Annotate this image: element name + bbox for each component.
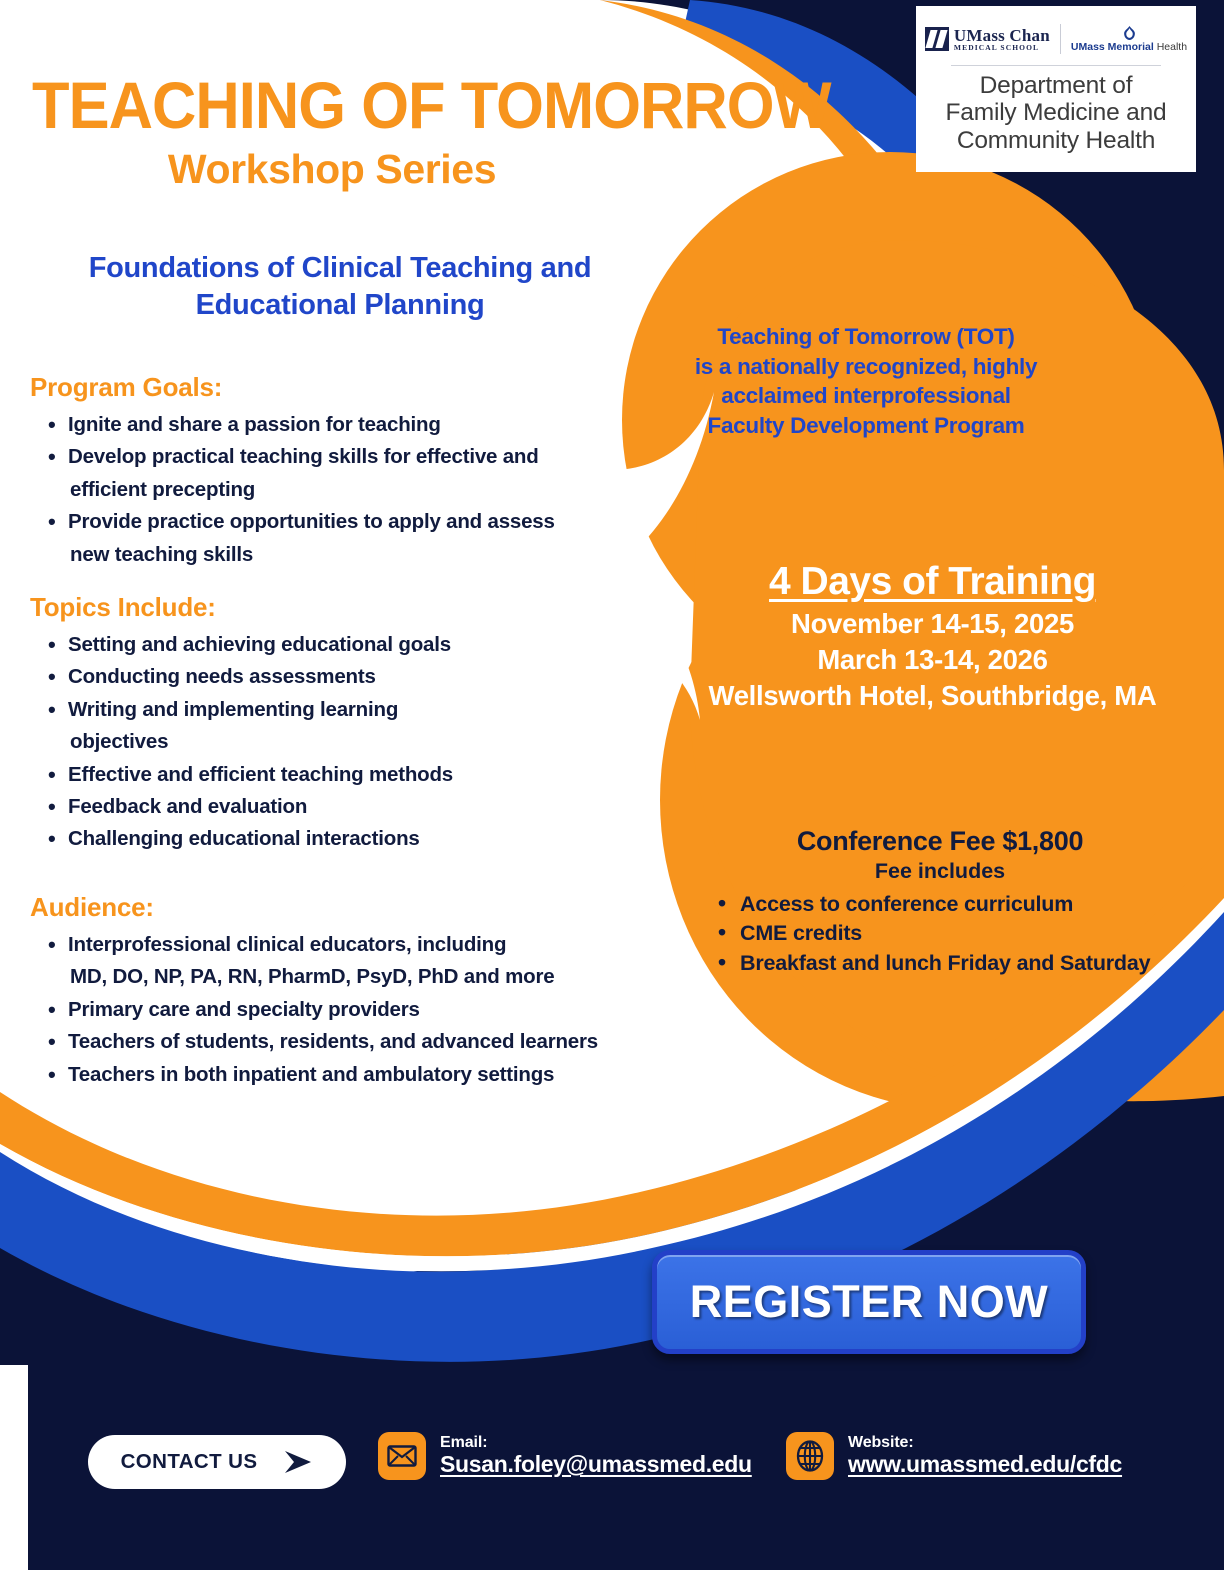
audience-text-cont: MD, DO, NP, PA, RN, PharmD, PsyD, PhD an… — [68, 961, 670, 993]
contact-us-label: CONTACT US — [121, 1450, 258, 1474]
blurb-line-3: acclaimed interprofessional — [640, 381, 1092, 411]
list-item: Access to conference curriculum — [710, 890, 1200, 919]
contact-us-button[interactable]: CONTACT US — [88, 1435, 346, 1489]
umass-chan-subtitle: MEDICAL SCHOOL — [954, 44, 1050, 52]
umass-memorial-light: Health — [1154, 41, 1187, 53]
website-text-group: Website: www.umassmed.edu/cfdc — [848, 1434, 1122, 1478]
globe-icon — [796, 1440, 824, 1472]
umass-chan-name: UMass Chan — [954, 27, 1050, 44]
list-item: CME credits — [710, 919, 1200, 948]
umass-memorial-wordmark: UMass Memorial Health — [1071, 42, 1187, 53]
institution-logo-card: UMass Chan MEDICAL SCHOOL UMass Memorial… — [916, 6, 1196, 172]
program-title-line-2: Educational Planning — [40, 287, 640, 324]
page-title: TEACHING OF TOMORROW — [32, 72, 702, 138]
list-item: Effective and efficient teaching methods — [30, 759, 630, 791]
umass-chan-wordmark: UMass Chan MEDICAL SCHOOL — [954, 27, 1050, 52]
program-title-line-1: Foundations of Clinical Teaching and — [40, 250, 640, 287]
program-title: Foundations of Clinical Teaching and Edu… — [40, 250, 640, 324]
website-contact-block: Website: www.umassmed.edu/cfdc — [786, 1432, 1122, 1480]
training-dates-section: 4 Days of Training November 14-15, 2025 … — [660, 560, 1205, 712]
email-label: Email: — [440, 1434, 752, 1452]
audience-text: Teachers of students, residents, and adv… — [68, 1030, 598, 1053]
logo-divider — [1060, 24, 1061, 54]
conference-fee-subtitle: Fee includes — [680, 859, 1200, 884]
list-item: Interprofessional clinical educators, in… — [30, 929, 670, 994]
poster-canvas: UMass Chan MEDICAL SCHOOL UMass Memorial… — [0, 0, 1224, 1584]
conference-fee-title: Conference Fee $1,800 — [680, 826, 1200, 857]
headline-group: TEACHING OF TOMORROW Workshop Series — [32, 72, 752, 193]
register-now-label: REGISTER NOW — [690, 1276, 1049, 1328]
topics-list: Setting and achieving educational goals … — [30, 629, 630, 856]
department-line-3: Community Health — [946, 127, 1167, 154]
list-item: Provide practice opportunities to apply … — [30, 506, 630, 571]
topic-text: Feedback and evaluation — [68, 795, 307, 818]
umass-chan-logo: UMass Chan MEDICAL SCHOOL — [925, 27, 1050, 52]
globe-icon-wrapper — [786, 1432, 834, 1480]
list-item: Conducting needs assessments — [30, 661, 630, 693]
audience-text: Teachers in both inpatient and ambulator… — [68, 1063, 554, 1086]
topic-text-cont: objectives — [68, 726, 630, 758]
goal-text-cont: new teaching skills — [68, 539, 630, 571]
email-contact-block: Email: Susan.foley@umassmed.edu — [378, 1432, 752, 1480]
umass-memorial-bold: UMass Memorial — [1071, 41, 1154, 53]
logo-lockup: UMass Chan MEDICAL SCHOOL UMass Memorial… — [925, 22, 1187, 56]
goal-text: Ignite and share a passion for teaching — [68, 413, 441, 436]
topic-text: Writing and implementing learning — [68, 698, 398, 721]
website-label: Website: — [848, 1434, 1122, 1452]
training-date-1: November 14-15, 2025 — [660, 608, 1205, 640]
list-item: Writing and implementing learning object… — [30, 694, 630, 759]
email-text-group: Email: Susan.foley@umassmed.edu — [440, 1434, 752, 1478]
list-item: Setting and achieving educational goals — [30, 629, 630, 661]
list-item: Teachers in both inpatient and ambulator… — [30, 1059, 670, 1091]
umass-memorial-flame-icon — [1123, 26, 1136, 40]
list-item: Challenging educational interactions — [30, 823, 630, 855]
goal-text-cont: efficient precepting — [68, 474, 630, 506]
audience-heading: Audience: — [30, 892, 670, 923]
department-line-1: Department of — [946, 72, 1167, 99]
blurb-line-4: Faculty Development Program — [640, 411, 1092, 441]
topic-text: Setting and achieving educational goals — [68, 633, 451, 656]
website-value[interactable]: www.umassmed.edu/cfdc — [848, 1452, 1122, 1478]
training-date-2: March 13-14, 2026 — [660, 644, 1205, 676]
topic-text: Conducting needs assessments — [68, 665, 376, 688]
audience-section: Audience: Interprofessional clinical edu… — [30, 892, 670, 1091]
list-item: Feedback and evaluation — [30, 791, 630, 823]
topics-heading: Topics Include: — [30, 592, 630, 623]
umass-memorial-logo: UMass Memorial Health — [1071, 26, 1187, 53]
conference-fee-section: Conference Fee $1,800 Fee includes Acces… — [680, 826, 1200, 978]
topics-section: Topics Include: Setting and achieving ed… — [30, 592, 630, 856]
topic-text: Effective and efficient teaching methods — [68, 763, 453, 786]
list-item: Teachers of students, residents, and adv… — [30, 1026, 670, 1058]
list-item: Primary care and specialty providers — [30, 994, 670, 1026]
arrow-right-icon — [283, 1449, 313, 1475]
blurb-line-2: is a nationally recognized, highly — [640, 352, 1092, 382]
goal-text: Develop practical teaching skills for ef… — [68, 445, 539, 468]
program-goals-list: Ignite and share a passion for teaching … — [30, 409, 630, 571]
program-goals-heading: Program Goals: — [30, 372, 630, 403]
audience-list: Interprofessional clinical educators, in… — [30, 929, 670, 1091]
blurb-line-1: Teaching of Tomorrow (TOT) — [640, 322, 1092, 352]
list-item: Breakfast and lunch Friday and Saturday — [710, 949, 1200, 978]
email-value[interactable]: Susan.foley@umassmed.edu — [440, 1452, 752, 1478]
department-line-2: Family Medicine and — [946, 99, 1167, 126]
audience-text: Interprofessional clinical educators, in… — [68, 933, 506, 956]
training-heading: 4 Days of Training — [660, 560, 1205, 604]
program-goals-section: Program Goals: Ignite and share a passio… — [30, 372, 630, 571]
goal-text: Provide practice opportunities to apply … — [68, 510, 555, 533]
page-subtitle: Workshop Series — [32, 146, 632, 193]
logo-separator-rule — [951, 65, 1161, 66]
register-now-button[interactable]: REGISTER NOW — [652, 1250, 1086, 1354]
department-name: Department of Family Medicine and Commun… — [946, 72, 1167, 154]
envelope-icon-wrapper — [378, 1432, 426, 1480]
topic-text: Challenging educational interactions — [68, 827, 420, 850]
training-venue: Wellsworth Hotel, Southbridge, MA — [660, 680, 1205, 712]
list-item: Develop practical teaching skills for ef… — [30, 441, 630, 506]
conference-fee-list: Access to conference curriculum CME cred… — [680, 890, 1200, 978]
envelope-icon — [387, 1445, 417, 1467]
umass-chan-mark-icon — [925, 27, 949, 51]
audience-text: Primary care and specialty providers — [68, 998, 420, 1021]
program-blurb: Teaching of Tomorrow (TOT) is a national… — [640, 322, 1092, 441]
list-item: Ignite and share a passion for teaching — [30, 409, 630, 441]
